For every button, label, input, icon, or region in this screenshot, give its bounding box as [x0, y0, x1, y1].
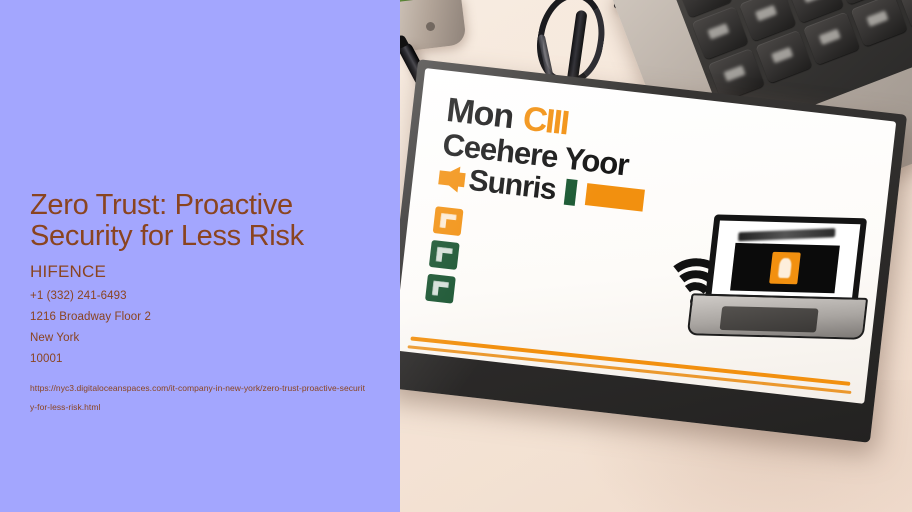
plant-pot-detail — [426, 22, 435, 31]
laptop-screen — [730, 243, 840, 293]
info-block: Zero Trust: Proactive Security for Less … — [30, 190, 375, 417]
chart-icon — [425, 274, 456, 304]
street-address: 1216 Broadway Floor 2 — [30, 307, 375, 328]
poster-content: Mon CIII Ceehere Yoor Sunris — [400, 68, 896, 404]
poster-page: Mon CIII Ceehere Yoor Sunris — [400, 68, 896, 404]
poster-headline-word: Sunris — [467, 166, 557, 206]
phone-number: +1 (332) 241-6493 — [30, 286, 375, 307]
laptop-base — [687, 293, 868, 339]
page-title: Zero Trust: Proactive Security for Less … — [30, 190, 375, 251]
document-icon — [433, 206, 464, 236]
source-url-link[interactable]: https://nyc3.digitaloceanspaces.com/it-c… — [30, 379, 368, 416]
orange-badge — [585, 183, 645, 211]
postal-code: 10001 — [30, 349, 375, 370]
list-icon — [429, 240, 460, 270]
keyboard-key — [803, 11, 860, 65]
laptop-illustration — [687, 206, 876, 351]
accent-rule — [410, 336, 850, 385]
accent-rule-secondary — [408, 345, 852, 394]
company-name: HIFENCE — [30, 262, 375, 282]
keyboard-key — [755, 30, 812, 84]
laptop-trackpad — [720, 306, 819, 332]
framed-poster: Mon CIII Ceehere Yoor Sunris — [400, 59, 907, 443]
photo-panel: Mon CIII Ceehere Yoor Sunris — [400, 0, 912, 512]
laptop-screen-text — [738, 228, 835, 241]
lock-icon — [769, 252, 801, 285]
laptop-lid — [705, 214, 867, 303]
green-badge — [564, 179, 578, 206]
keyboard-key — [850, 0, 907, 47]
info-panel: Zero Trust: Proactive Security for Less … — [0, 0, 400, 512]
poster-headline-accent-word: CIII — [521, 102, 569, 141]
left-arrow-icon — [438, 164, 461, 192]
city-name: New York — [30, 328, 375, 349]
page-root: Zero Trust: Proactive Security for Less … — [0, 0, 912, 512]
